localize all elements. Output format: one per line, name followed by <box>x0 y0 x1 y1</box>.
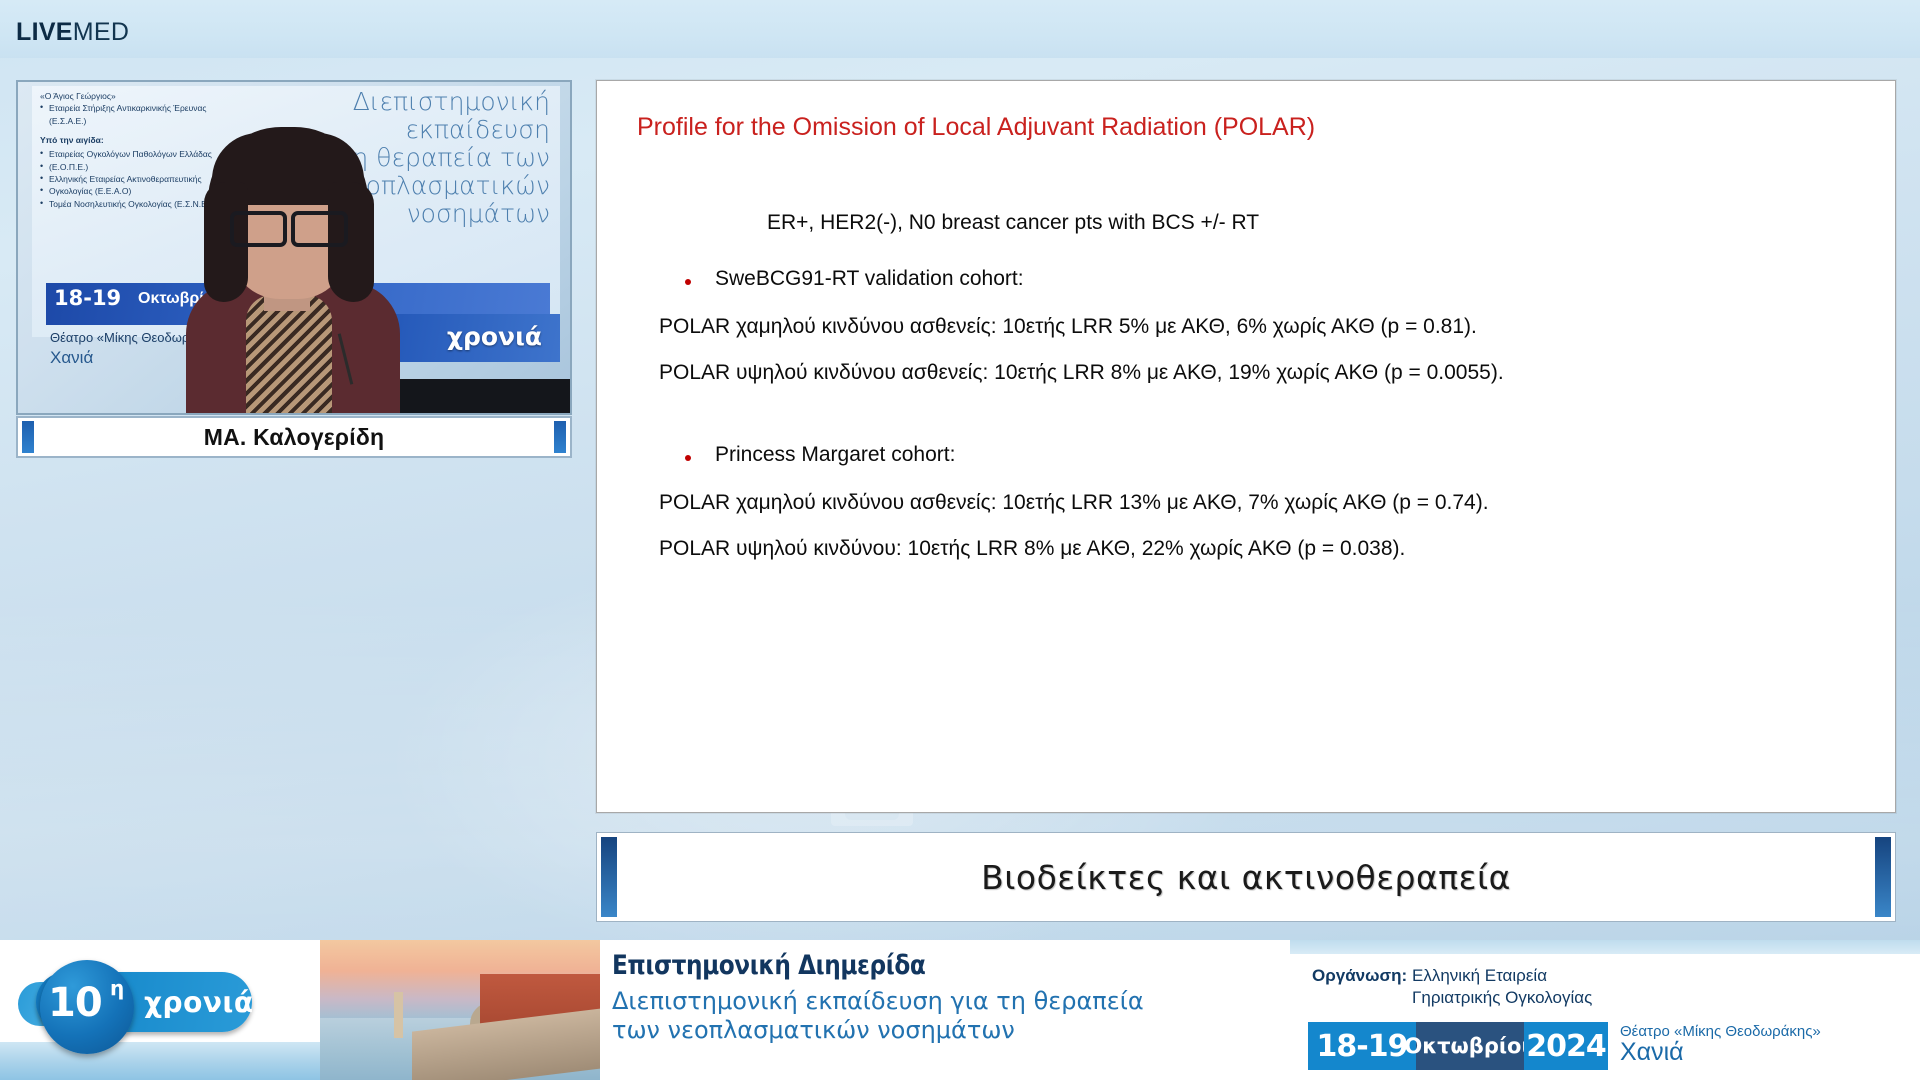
footer-venue-block: Θέατρο «Μίκης Θεοδωράκης» Χανιά <box>1608 1022 1920 1070</box>
slide-bullet-swebcg-line-1: POLAR υψηλού κινδύνου ασθενείς: 10ετής L… <box>659 361 1865 385</box>
backdrop-chronia-text: χρονιά <box>447 322 542 351</box>
session-title-banner: Βιοδείκτες και ακτινοθεραπεία <box>596 832 1896 922</box>
livemed-logo[interactable]: LIVEMED <box>16 18 129 47</box>
chania-harbour-photo <box>320 940 600 1080</box>
footer-banner: 10 η χρονιά Επιστημονική Διημερίδα Διεπι… <box>0 940 1920 1080</box>
backdrop-date: 18-19 <box>54 286 121 310</box>
backdrop-org-second: Εταιρεία Στήριξης Αντικαρκινικής Έρευνας <box>40 102 250 114</box>
footer-organizer-area: Οργάνωση: Ελληνική Εταιρεία Γηριατρικής … <box>1290 940 1920 1080</box>
presentation-slide[interactable]: Profile for the Omission of Local Adjuva… <box>596 80 1896 813</box>
footer-month: Οκτωβρίου <box>1416 1022 1524 1070</box>
backdrop-org-first: «Ο Άγιος Γεώργιος» <box>40 90 250 102</box>
slide-lead-text: ER+, HER2(-), N0 breast cancer pts with … <box>767 211 1865 235</box>
slide-bullet-princess-margaret-line-1: POLAR υψηλού κινδύνου: 10ετής LRR 8% με … <box>659 537 1865 561</box>
slide-bullet-princess-margaret: Princess Margaret cohort: <box>677 443 1865 467</box>
logo-live-text: LIVE <box>16 18 73 46</box>
footer-event-subtitle: Διεπιστημονική εκπαίδευση για τη θεραπεί… <box>612 987 1272 1046</box>
session-title: Βιοδείκτες και ακτινοθεραπεία <box>981 858 1511 897</box>
badge-number: 10 <box>48 980 102 1026</box>
footer-date: 18-19 <box>1308 1022 1416 1070</box>
organizer-name: Ελληνική Εταιρεία Γηριατρικής Ογκολογίας <box>1412 965 1592 1009</box>
footer-event-subtitle-line1: Διεπιστημονική εκπαίδευση για τη θεραπεί… <box>612 987 1272 1016</box>
speaker-figure <box>168 127 418 415</box>
speaker-nameplate: ΜΑ. Καλογερίδη <box>16 416 572 458</box>
speaker-blouse <box>246 295 332 415</box>
footer-top-band <box>1290 940 1920 954</box>
logo-med-text: MED <box>73 18 129 46</box>
slide-body: ER+, HER2(-), N0 breast cancer pts with … <box>637 211 1865 583</box>
footer-badge-area: 10 η χρονιά <box>0 940 320 1080</box>
speaker-video-panel[interactable]: «Ο Άγιος Γεώργιος» Εταιρεία Στήριξης Αντ… <box>16 80 572 415</box>
backdrop-headline-0: Διεπιστημονική <box>280 88 550 116</box>
footer-year: 2024 <box>1524 1022 1608 1070</box>
footer-city: Χανιά <box>1620 1040 1920 1066</box>
slide-title: Profile for the Omission of Local Adjuva… <box>637 113 1315 142</box>
video-frame[interactable]: «Ο Άγιος Γεώργιος» Εταιρεία Στήριξης Αντ… <box>16 80 572 415</box>
backdrop-city: Χανιά <box>50 348 93 368</box>
footer-date-bar: 18-19 Οκτωβρίου 2024 Θέατρο «Μίκης Θεοδω… <box>1308 1022 1920 1070</box>
footer-event-info: Επιστημονική Διημερίδα Διεπιστημονική εκ… <box>612 944 1272 1080</box>
anniversary-badge: 10 η χρονιά <box>18 958 258 1058</box>
badge-ordinal: η <box>110 976 124 1000</box>
slide-bullet-swebcg: SweBCG91-RT validation cohort: <box>677 267 1865 291</box>
top-bar: LIVEMED <box>0 0 1920 58</box>
slide-spacer <box>637 407 1865 443</box>
organizer-name-line1: Ελληνική Εταιρεία <box>1412 965 1592 987</box>
footer-event-subtitle-line2: των νεοπλασματικών νοσημάτων <box>612 1016 1272 1045</box>
backdrop-org-second-abbr: (Ε.Σ.Α.Ε.) <box>40 115 250 127</box>
slide-bullet-princess-margaret-line-0: POLAR χαμηλού κινδύνου ασθενείς: 10ετής … <box>659 491 1865 515</box>
photo-lighthouse <box>394 992 403 1038</box>
slide-bullet-swebcg-line-0: POLAR χαμηλού κινδύνου ασθενείς: 10ετής … <box>659 315 1865 339</box>
organizer-name-line2: Γηριατρικής Ογκολογίας <box>1412 987 1592 1009</box>
glasses-icon <box>230 211 348 241</box>
organizer-label: Οργάνωση: <box>1312 966 1407 986</box>
speaker-name: ΜΑ. Καλογερίδη <box>204 424 384 451</box>
badge-word: χρονιά <box>144 986 254 1019</box>
footer-event-title: Επιστημονική Διημερίδα <box>612 950 1180 981</box>
